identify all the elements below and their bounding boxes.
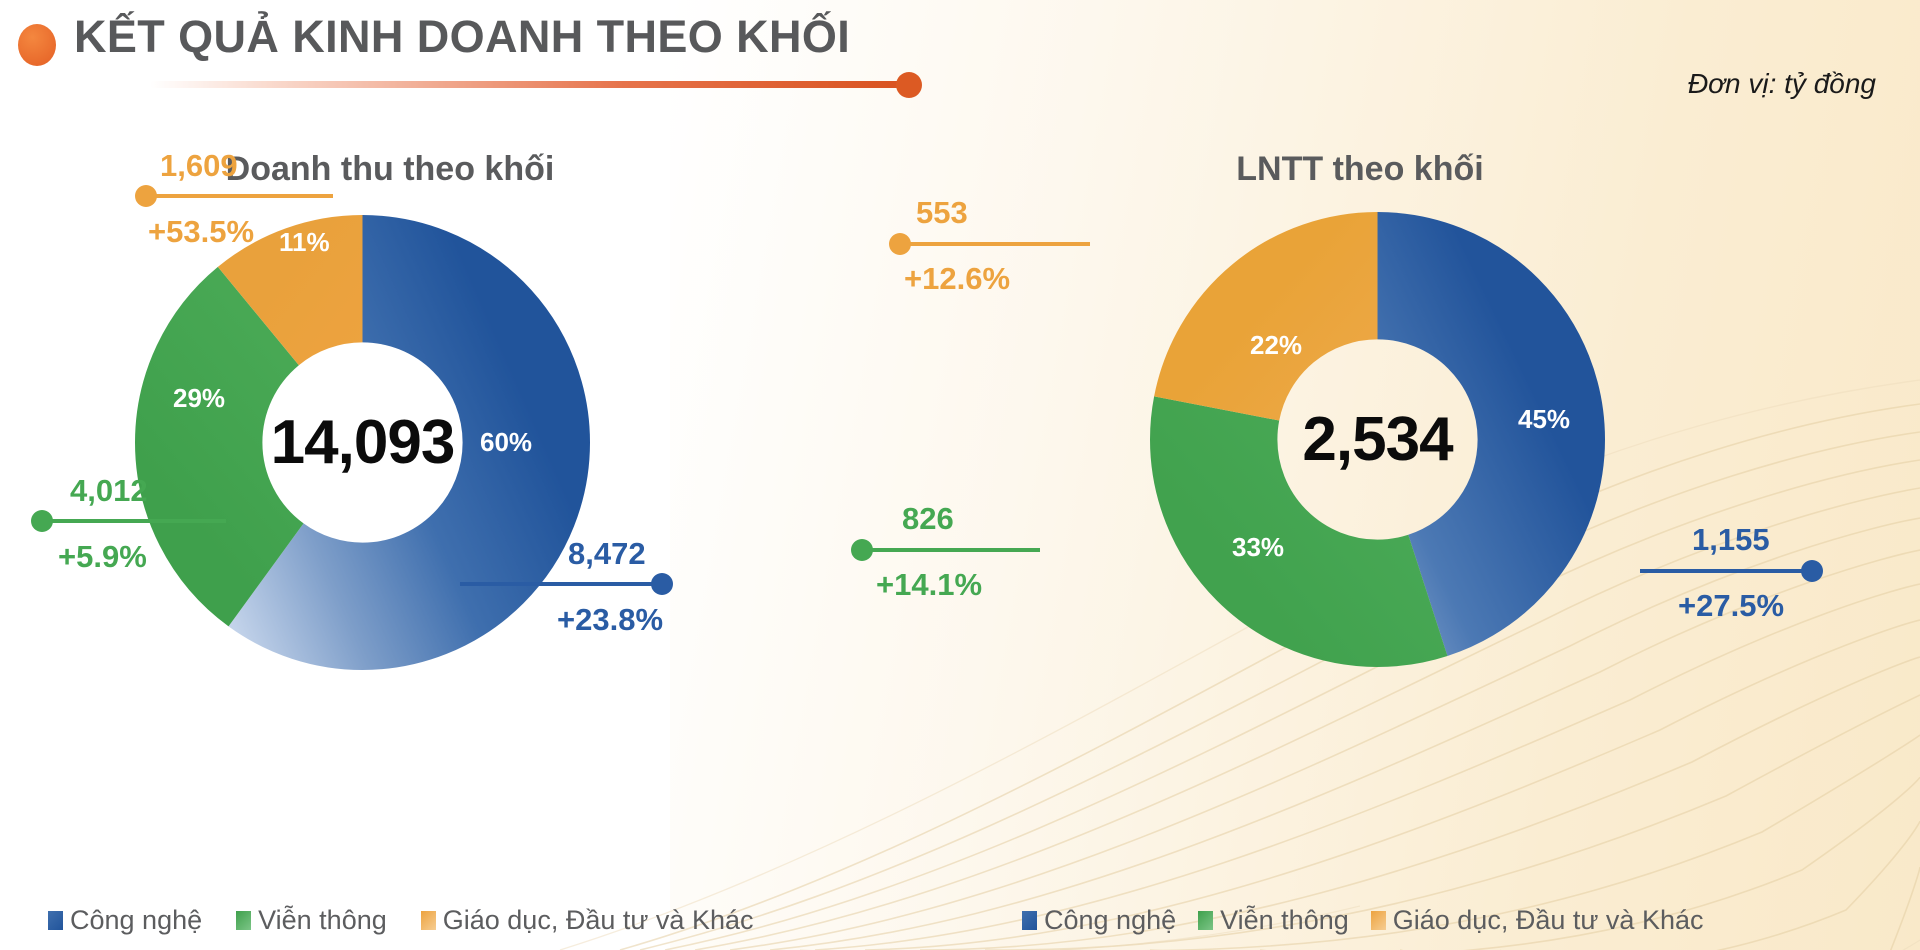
revenue-callout-dot-vien-thong	[31, 510, 53, 532]
page-header: KẾT QUẢ KINH DOANH THEO KHỐI Đơn vị: tỷ …	[0, 0, 1920, 120]
lntt-legend: Công nghệ Viễn thông Giáo dục, Đầu tư và…	[1022, 905, 1704, 936]
revenue-chart-panel: Doanh thu theo khối	[0, 150, 960, 950]
revenue-callout-growth-cong-nghe: +23.8%	[557, 602, 663, 638]
lntt-donut-svg	[1150, 212, 1605, 667]
header-bullet-icon	[18, 24, 56, 66]
lntt-callout-value-cong-nghe: 1,155	[1692, 522, 1770, 558]
green-swatch-icon	[1198, 911, 1213, 930]
legend-label-giao-duc: Giáo dục, Đầu tư và Khác	[443, 905, 754, 936]
revenue-callout-value-giao-duc: 1,609	[160, 148, 238, 184]
revenue-donut-svg	[135, 215, 590, 670]
revenue-donut-chart: 14,093 60% 29% 11%	[135, 215, 590, 670]
blue-swatch-icon	[1022, 911, 1037, 930]
lntt-callout-growth-vien-thong: +14.1%	[876, 567, 982, 603]
revenue-chart-title: Doanh thu theo khối	[0, 150, 870, 189]
page-title: KẾT QUẢ KINH DOANH THEO KHỐI	[74, 11, 850, 63]
lntt-callout-dot-giao-duc	[889, 233, 911, 255]
legend-label-giao-duc: Giáo dục, Đầu tư và Khác	[1393, 905, 1704, 936]
orange-swatch-icon	[1371, 911, 1386, 930]
legend-item-giao-duc[interactable]: Giáo dục, Đầu tư và Khác	[421, 905, 754, 936]
unit-note: Đơn vị: tỷ đồng	[1688, 68, 1876, 100]
lntt-donut-chart: 2,534 45% 33% 22%	[1150, 212, 1605, 667]
legend-label-cong-nghe: Công nghệ	[70, 905, 202, 936]
green-swatch-icon	[236, 911, 251, 930]
lntt-chart-title: LNTT theo khối	[880, 150, 1840, 189]
legend-item-vien-thong[interactable]: Viễn thông	[236, 905, 387, 936]
revenue-callout-growth-giao-duc: +53.5%	[148, 214, 254, 250]
revenue-callout-line-cong-nghe	[460, 582, 660, 586]
legend-label-vien-thong: Viễn thông	[1220, 905, 1349, 936]
legend-item-cong-nghe[interactable]: Công nghệ	[48, 905, 202, 936]
orange-swatch-icon	[421, 911, 436, 930]
revenue-callout-line-vien-thong	[40, 519, 226, 523]
legend-label-vien-thong: Viễn thông	[258, 905, 387, 936]
lntt-callout-value-giao-duc: 553	[916, 195, 968, 231]
title-underline	[150, 81, 910, 88]
revenue-callout-value-vien-thong: 4,012	[70, 473, 148, 509]
revenue-callout-line-giao-duc	[143, 194, 333, 198]
lntt-callout-growth-giao-duc: +12.6%	[904, 261, 1010, 297]
lntt-callout-line-giao-duc	[898, 242, 1090, 246]
lntt-callout-growth-cong-nghe: +27.5%	[1678, 588, 1784, 624]
revenue-callout-value-cong-nghe: 8,472	[568, 536, 646, 572]
legend-item-cong-nghe[interactable]: Công nghệ	[1022, 905, 1176, 936]
legend-item-vien-thong[interactable]: Viễn thông	[1198, 905, 1349, 936]
lntt-callout-value-vien-thong: 826	[902, 501, 954, 537]
revenue-callout-dot-giao-duc	[135, 185, 157, 207]
blue-swatch-icon	[48, 911, 63, 930]
lntt-callout-line-cong-nghe	[1640, 569, 1810, 573]
revenue-callout-dot-cong-nghe	[651, 573, 673, 595]
revenue-legend: Công nghệ Viễn thông Giáo dục, Đầu tư và…	[48, 905, 754, 936]
lntt-callout-dot-vien-thong	[851, 539, 873, 561]
legend-item-giao-duc[interactable]: Giáo dục, Đầu tư và Khác	[1371, 905, 1704, 936]
lntt-callout-line-vien-thong	[860, 548, 1040, 552]
lntt-callout-dot-cong-nghe	[1801, 560, 1823, 582]
legend-label-cong-nghe: Công nghệ	[1044, 905, 1176, 936]
lntt-chart-panel: LNTT theo khối	[960, 150, 1920, 950]
title-underline-end-dot-icon	[896, 72, 922, 98]
revenue-callout-growth-vien-thong: +5.9%	[58, 539, 147, 575]
